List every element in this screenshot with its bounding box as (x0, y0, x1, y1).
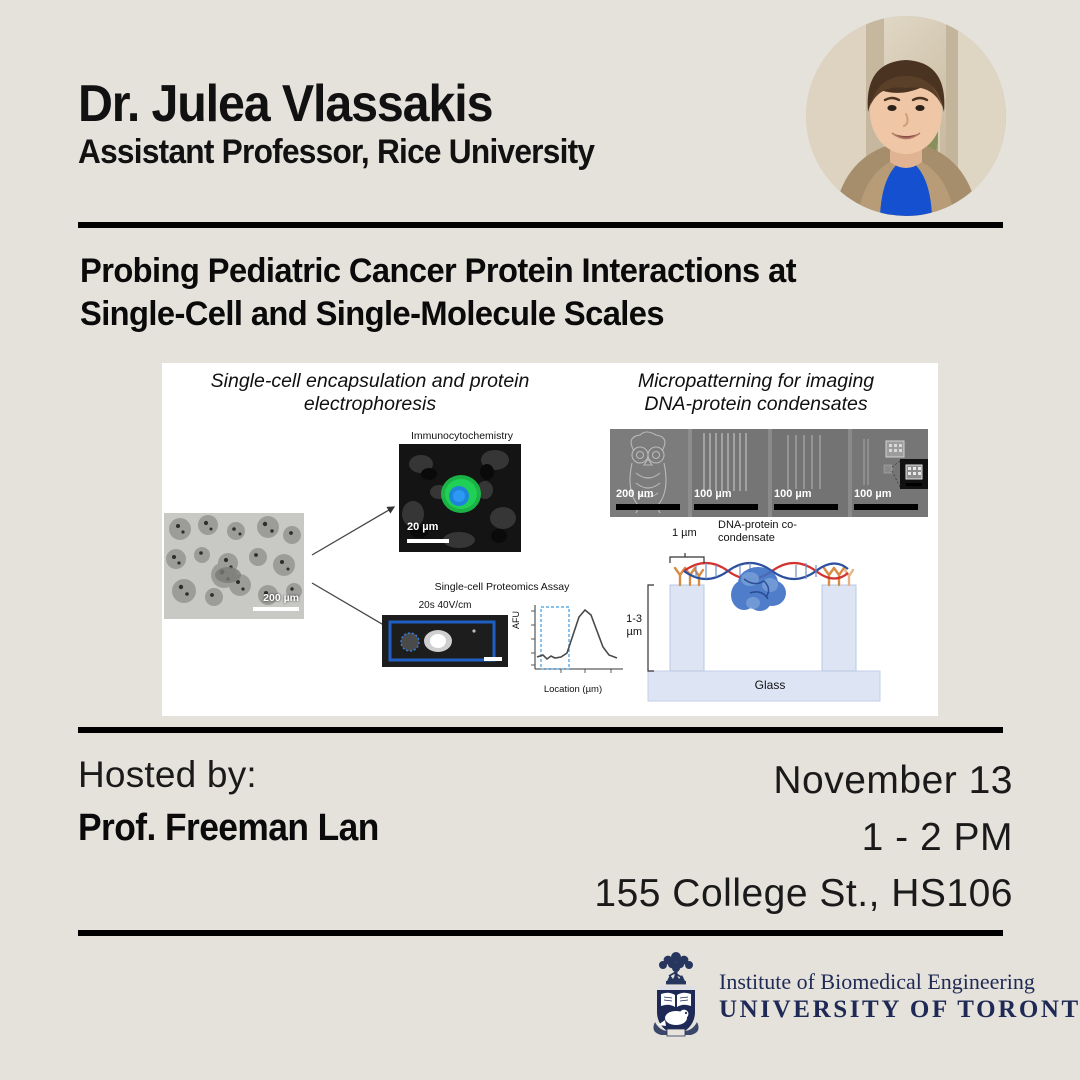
plot-y-axis-label: AFU (511, 611, 521, 629)
right-panel-heading-line-1: Micropatterning for imaging (582, 370, 930, 393)
immunocytochemistry-label: Immunocytochemistry (390, 430, 534, 442)
hydrogel-beads-micrograph: 200 µm (164, 513, 304, 619)
proteomics-assay-label: Single-cell Proteomics Assay (377, 581, 627, 593)
event-location: 155 College St., HS106 (594, 866, 1013, 923)
right-panel-heading-line-2: DNA-protein condensates (582, 393, 930, 416)
condensate-label: DNA-protein co- condensate (718, 519, 828, 545)
sem-scalebar-label-3: 100 µm (774, 488, 812, 500)
sem-scalebar-line-2 (694, 504, 758, 510)
divider-middle (78, 727, 1003, 733)
glass-substrate-label: Glass (610, 678, 930, 692)
seminar-poster: Dr. Julea Vlassakis Assistant Professor,… (0, 0, 1080, 1080)
right-panel-heading: Micropatterning for imaging DNA-protein … (582, 370, 930, 416)
event-time: 1 - 2 PM (594, 810, 1013, 867)
host-block: Hosted by: Prof. Freeman Lan (78, 755, 401, 849)
gel-electrophoresis-image (382, 615, 508, 667)
left-panel-heading-line-1: Single-cell encapsulation and protein (170, 370, 570, 393)
event-details: November 13 1 - 2 PM 155 College St., HS… (594, 753, 1013, 923)
logo-university-line: UNIVERSITY OF TORONTO (719, 996, 1080, 1025)
headshot-image (806, 16, 1006, 216)
pillar-height-line-1: 1-3 (616, 613, 642, 626)
immunocytochemistry-image: 20 µm (399, 444, 521, 552)
condensate-label-line-2: condensate (718, 532, 828, 545)
speaker-role: Assistant Professor, Rice University (78, 135, 729, 171)
uoft-crest-icon (645, 948, 707, 1038)
left-panel-heading: Single-cell encapsulation and protein el… (170, 370, 570, 416)
logo-institute-line: Institute of Biomedical Engineering (719, 970, 1080, 994)
hosted-by-label: Hosted by: (78, 755, 401, 796)
pillar-height-line-2: µm (616, 626, 642, 639)
condensate-schematic: 1 µm DNA-protein co- condensate 1-3 µm G… (610, 523, 930, 711)
divider-top (78, 222, 1003, 228)
beads-scalebar-label: 200 µm (263, 592, 299, 604)
talk-title-line-1: Probing Pediatric Cancer Protein Interac… (80, 250, 973, 293)
talk-title-line-2: Single-Cell and Single-Molecule Scales (80, 293, 973, 336)
speaker-block: Dr. Julea Vlassakis Assistant Professor,… (78, 78, 778, 171)
sem-scalebar-label-2: 100 µm (694, 488, 732, 500)
icc-scalebar-line (407, 539, 449, 543)
gel-image (382, 615, 508, 667)
logo-text: Institute of Biomedical Engineering UNIV… (719, 970, 1080, 1025)
divider-bottom (78, 930, 1003, 936)
assay-condition-label: 20s 40V/cm (380, 600, 510, 611)
sem-scalebar-line-3 (774, 504, 838, 510)
condensate-label-line-1: DNA-protein co- (718, 519, 828, 532)
event-date: November 13 (594, 753, 1013, 810)
beads-scalebar-line (253, 607, 299, 611)
sem-scalebar-line-4 (854, 504, 918, 510)
speaker-name: Dr. Julea Vlassakis (78, 78, 729, 131)
uoft-ibme-logo: Institute of Biomedical Engineering UNIV… (645, 948, 1015, 1040)
talk-title: Probing Pediatric Cancer Protein Interac… (80, 250, 1010, 335)
speaker-headshot (806, 16, 1006, 216)
left-panel-heading-line-2: electrophoresis (170, 393, 570, 416)
pillar-width-label: 1 µm (672, 527, 697, 540)
sem-image-strip: 200 µm 100 µm 100 µm 100 µm (610, 429, 928, 517)
icc-micrograph (399, 444, 521, 552)
host-name: Prof. Freeman Lan (78, 808, 379, 850)
icc-scalebar-label: 20 µm (407, 521, 438, 533)
pillar-height-label: 1-3 µm (616, 613, 642, 639)
sem-scalebar-label-1: 200 µm (616, 488, 654, 500)
research-figure: Single-cell encapsulation and protein el… (162, 363, 938, 716)
sem-scalebar-label-4: 100 µm (854, 488, 892, 500)
sem-scalebar-line-1 (616, 504, 680, 510)
